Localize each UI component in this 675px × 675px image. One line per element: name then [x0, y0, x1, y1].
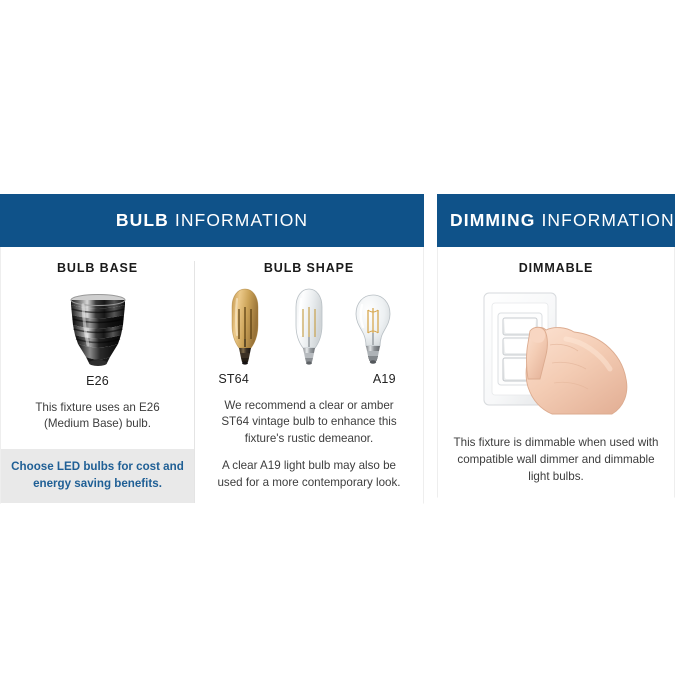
- dimmer-switch-artwork: [450, 281, 662, 421]
- bulb-information-panel: BULB INFORMATION BULB BASE: [0, 194, 424, 504]
- st64-amber-bulb-icon: [224, 287, 266, 367]
- dimming-information-body: DIMMABLE: [437, 247, 675, 498]
- bulb-shape-labels: ST64 A19: [207, 372, 411, 386]
- bulb-header-light: INFORMATION: [175, 210, 308, 231]
- bulb-shape-artwork: [207, 281, 411, 367]
- dimming-information-header: DIMMING INFORMATION: [437, 194, 675, 247]
- a19-clear-bulb-icon: [352, 293, 394, 367]
- dimmable-title: DIMMABLE: [450, 261, 662, 275]
- bulb-information-body: BULB BASE: [0, 247, 424, 504]
- dimmable-description: This fixture is dimmable when used with …: [450, 435, 662, 485]
- e26-screw-base-icon: [66, 293, 130, 367]
- bulb-base-artwork: [15, 281, 180, 367]
- bulb-shape-paragraph-1: We recommend a clear or amber ST64 vinta…: [207, 398, 411, 447]
- bulb-base-column: BULB BASE: [1, 261, 194, 503]
- dimming-information-panel: DIMMING INFORMATION DIMMABLE: [437, 194, 675, 498]
- bulb-shape-label-middle: [282, 372, 335, 386]
- bulb-header-strong: BULB: [116, 210, 169, 231]
- bulb-shape-paragraph-2: A clear A19 light bulb may also be used …: [207, 458, 411, 491]
- bulb-shape-title: BULB SHAPE: [207, 261, 411, 275]
- led-tip-box: Choose LED bulbs for cost and energy sav…: [1, 449, 194, 503]
- bulb-shape-label-a19: A19: [358, 372, 411, 386]
- dimming-header-strong: DIMMING: [450, 210, 535, 231]
- bulb-base-title: BULB BASE: [15, 261, 180, 275]
- bulb-shape-label-st64: ST64: [207, 372, 260, 386]
- dimming-header-light: INFORMATION: [541, 210, 674, 231]
- st64-clear-bulb-icon: [288, 287, 330, 367]
- bulb-base-description: This fixture uses an E26 (Medium Base) b…: [15, 400, 180, 433]
- bulb-information-header: BULB INFORMATION: [0, 194, 424, 247]
- bulb-shape-column: BULB SHAPE: [194, 261, 423, 503]
- bulb-base-label: E26: [15, 374, 180, 388]
- bulb-and-dimming-information: BULB INFORMATION BULB BASE: [0, 194, 675, 504]
- wall-dimmer-switch-with-hand-icon: [466, 287, 646, 415]
